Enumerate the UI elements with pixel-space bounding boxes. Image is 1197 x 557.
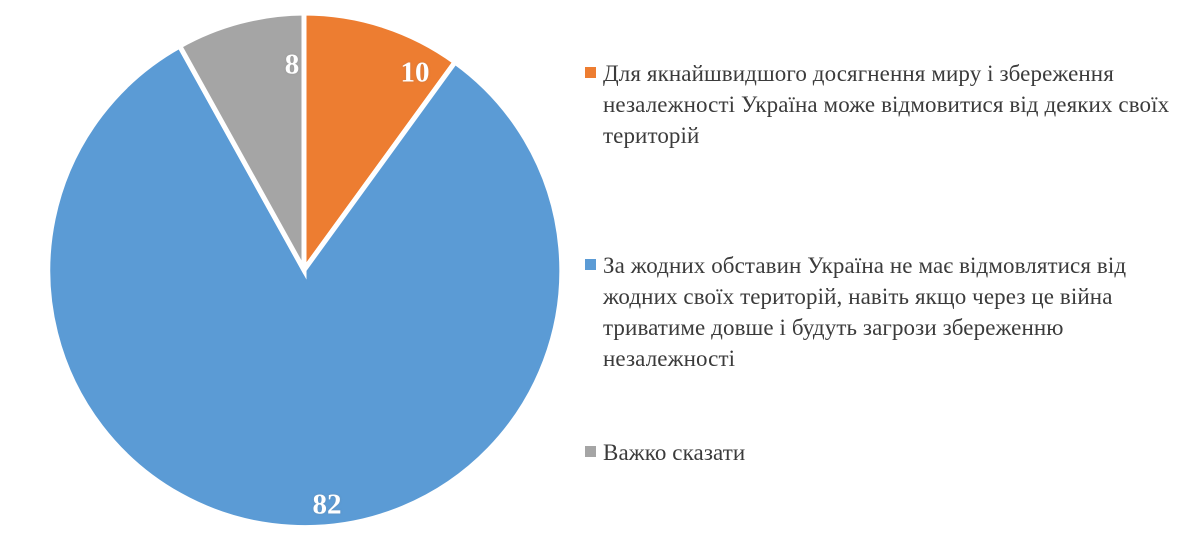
chart-legend: Для якнайшвидшого досягнення миру і збер… <box>585 0 1185 557</box>
legend-item-label: За жодних обставин Україна не має відмов… <box>603 250 1175 374</box>
legend-square-marker-icon <box>585 446 596 457</box>
legend-item-label: Важко сказати <box>603 437 1003 468</box>
legend-item-label: Для якнайшвидшого досягнення миру і збер… <box>603 58 1175 151</box>
data-label-gray: 8 <box>285 51 300 80</box>
legend-square-marker-icon <box>585 259 596 270</box>
pie-svg <box>47 13 561 527</box>
legend-item-orange[interactable]: Для якнайшвидшого досягнення миру і збер… <box>585 58 1175 151</box>
pie-chart: 10 82 8 Для якнайшвидшого досягнення мир… <box>0 0 1197 557</box>
pie-graphic: 10 82 8 <box>47 13 561 527</box>
legend-item-blue[interactable]: За жодних обставин Україна не має відмов… <box>585 250 1175 374</box>
legend-item-gray[interactable]: Важко сказати <box>585 437 1175 468</box>
data-label-orange: 10 <box>401 59 430 88</box>
data-label-blue: 82 <box>313 491 342 520</box>
legend-square-marker-icon <box>585 67 596 78</box>
